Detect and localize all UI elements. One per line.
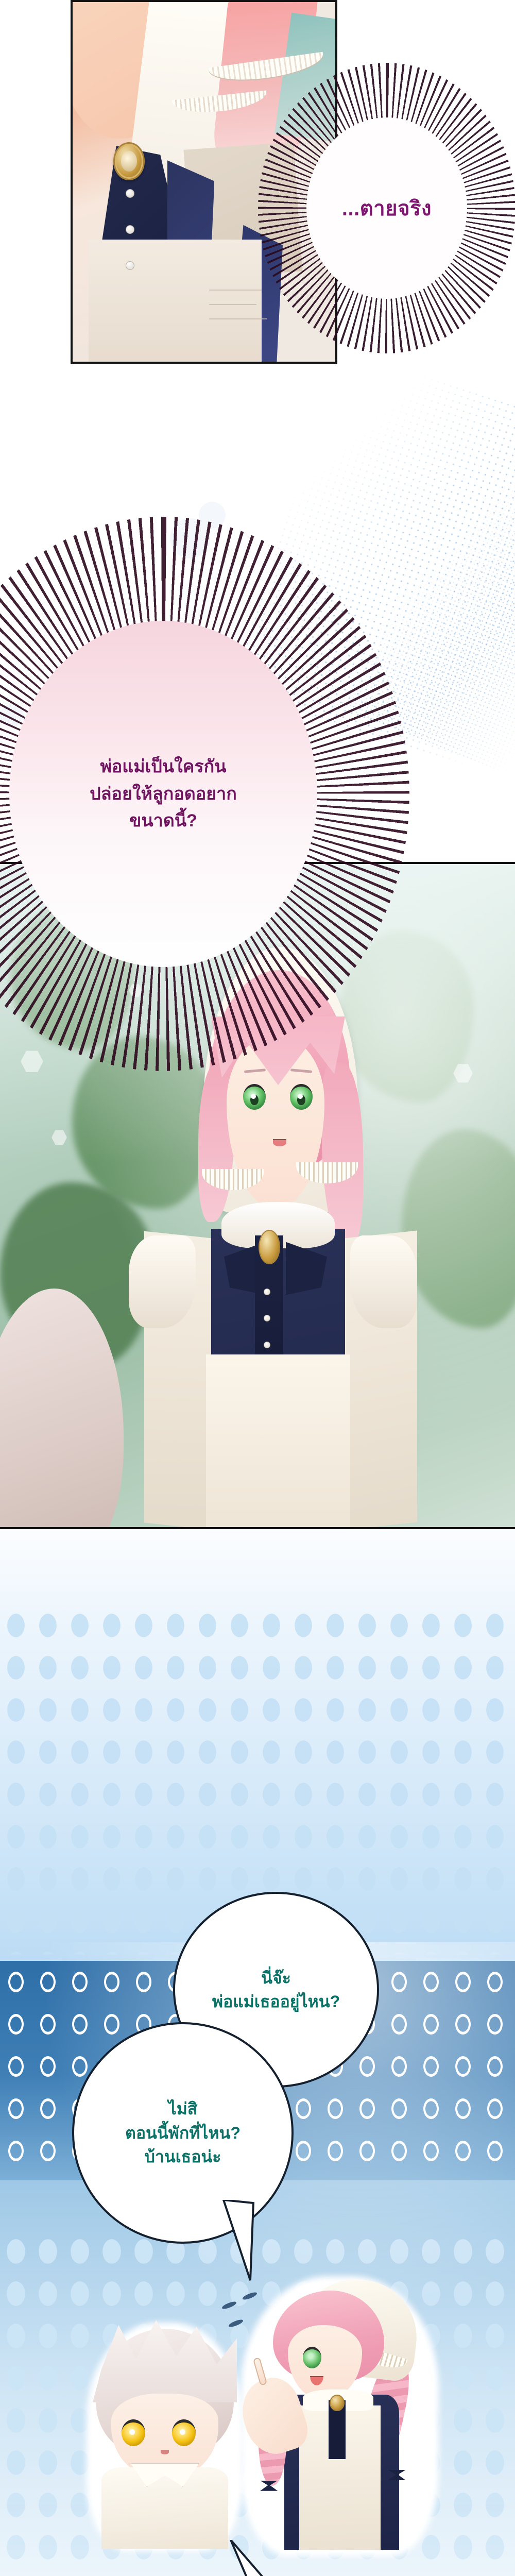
bubble-line: นี่จ๊ะ <box>212 1966 340 1990</box>
pupil <box>297 1095 305 1106</box>
chibi-boy <box>93 2329 237 2545</box>
bubble-text: พ่อแม่เป็นใครกัน ปล่อยให้ลูกอดอยาก ขนาดน… <box>34 753 293 835</box>
uniform-button <box>126 261 134 270</box>
fabric-fold <box>209 304 256 305</box>
bubble-tail <box>227 2540 288 2576</box>
eye-left <box>243 1084 266 1110</box>
bubble-line: บ้านเธอน่ะ <box>125 2145 241 2168</box>
cameo-brooch-icon <box>113 142 145 180</box>
cameo-brooch-icon <box>330 2395 345 2411</box>
uniform-button <box>126 225 134 234</box>
bodice-button <box>264 1342 270 1348</box>
fabric-fold <box>209 318 267 319</box>
boy-shirt <box>101 2467 228 2550</box>
bubble-text: นี่จ๊ะ พ่อแม่เธออยู่ไหน? <box>200 1966 352 2014</box>
speech-bubble-death-gasp: ...ตายจริง <box>306 117 467 299</box>
webtoon-page: ...ตายจริง พ่อแม่เป็นใครกัน ปล่อยให้ลูกอ… <box>0 0 515 2576</box>
bubble-line: ขนาดนี้? <box>34 807 293 835</box>
mouth <box>273 1139 286 1146</box>
bubble-line: พ่อแม่เป็นใครกัน <box>34 753 293 781</box>
fabric-fold <box>209 290 262 291</box>
bubble-text: ไม่สิ ตอนนี้พักที่ไหน? บ้านเธอน่ะ <box>112 2097 254 2168</box>
bubble-line: ตอนนี้พักที่ไหน? <box>125 2121 241 2145</box>
bubble-line: ไม่สิ <box>125 2097 241 2121</box>
bubble-line: ปล่อยให้ลูกอดอยาก <box>34 781 293 808</box>
speech-bubble-who-are-parents: พ่อแม่เป็นใครกัน ปล่อยให้ลูกอดอยาก ขนาดน… <box>9 621 317 967</box>
shoulder-frill-left <box>129 1235 196 1328</box>
eye <box>303 2347 321 2368</box>
bubble-tail <box>221 2200 283 2282</box>
chibi-maid-girl <box>247 2282 433 2550</box>
bodice-button <box>264 1289 270 1295</box>
mouth <box>161 2450 169 2454</box>
pupil <box>250 1095 259 1106</box>
bubble-line: พ่อแม่เธออยู่ไหน? <box>212 1990 340 2013</box>
bubble-text: ...ตายจริง <box>306 192 467 225</box>
eye-right <box>290 1084 313 1110</box>
apron-shape <box>89 240 262 364</box>
apron-center <box>206 1354 350 1527</box>
shoulder-frill-right <box>350 1235 417 1328</box>
uniform-button <box>126 189 134 198</box>
cameo-brooch-icon <box>259 1230 280 1264</box>
